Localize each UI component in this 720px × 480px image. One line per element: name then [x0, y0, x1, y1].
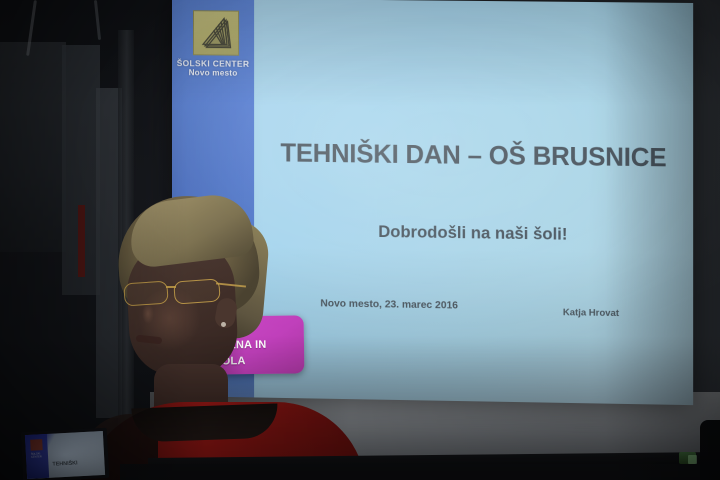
- nose: [140, 304, 156, 328]
- triangle-harp-icon: [194, 11, 238, 54]
- laptop: ŠOLSKI CENTER TEHNIŠKI: [21, 428, 109, 480]
- right-dark-object: [700, 420, 720, 480]
- photo-scene: ŠOLSKI CENTER Novo mesto TEHNIŠKI DAN – …: [0, 0, 720, 480]
- eyeglasses: [122, 280, 238, 304]
- green-object-highlight: [688, 455, 697, 464]
- laptop-screen: ŠOLSKI CENTER TEHNIŠKI: [25, 431, 105, 479]
- right-lens: [173, 278, 220, 304]
- left-lens: [123, 280, 168, 306]
- slide-author: Katja Hrovat: [563, 306, 619, 318]
- solski-center-logo: [193, 10, 239, 56]
- logo-location-text: Novo mesto: [172, 68, 254, 78]
- desk-surface: [120, 464, 720, 480]
- glasses-bridge: [166, 286, 176, 288]
- slide-title: TEHNIŠKI DAN – OŠ BRUSNICE: [254, 139, 693, 174]
- cabinet-left: [0, 42, 66, 252]
- earring: [221, 322, 226, 327]
- laptop-screen-glow: [25, 431, 105, 479]
